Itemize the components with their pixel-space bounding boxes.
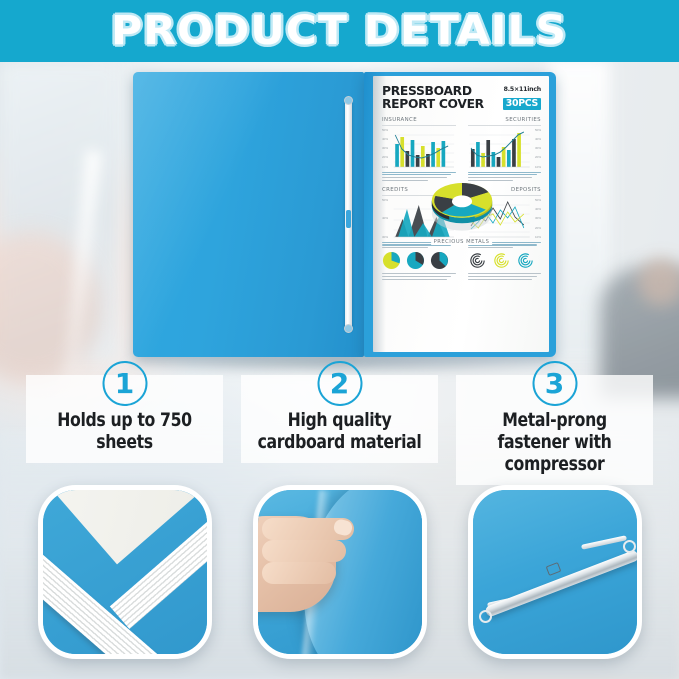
report-chart-grid: INSURANCE 50%40%30%20%10% [382, 117, 541, 281]
feature-number-badge-2: 2 [317, 361, 362, 406]
photo3-eyelet-right-icon [623, 540, 636, 553]
prong-eyelet-top-icon [344, 96, 353, 105]
chart-insurance: 50%40%30%20%10% [382, 129, 456, 169]
chart-securities-yticks: 50%40%30%20%10% [535, 129, 541, 169]
folder-back-cover: PRESSBOARD REPORT COVER 8.5×11inch 30PCS… [364, 72, 556, 357]
photo2-finger-2 [262, 540, 346, 562]
document-title-line1: PRESSBOARD [382, 85, 484, 98]
mini-pie-1 [382, 251, 401, 270]
feature-photo-3 [468, 485, 642, 659]
document-header: PRESSBOARD REPORT COVER 8.5×11inch 30PCS [382, 85, 541, 111]
chart-insurance-yticks: 50%40%30%20%10% [382, 129, 388, 169]
feature-card-2: 2 High quality cardboard material [241, 375, 438, 463]
mini-pie-charts [382, 251, 456, 270]
chart-credits-yticks: 50%40%30% [382, 199, 388, 239]
mini-pie-3 [430, 251, 449, 270]
feature-card-2-body: 2 High quality cardboard material [241, 375, 438, 463]
donut-chart-3d [425, 173, 499, 237]
folder-front-cover [133, 72, 364, 357]
document-meta: 8.5×11inch 30PCS [503, 85, 541, 111]
spiral-icon-yellow [492, 251, 511, 270]
spiral-icon-teal [516, 251, 535, 270]
feature-card-3: 3 Metal-prong fastener with compressor [456, 375, 653, 485]
document-title-line2: REPORT COVER [382, 98, 484, 111]
feature-card-1-body: 1 Holds up to 750 sheets [26, 375, 223, 463]
feature-text-2: High quality cardboard material [254, 409, 424, 453]
feature-photo-1 [38, 485, 212, 659]
spiral-icon-dark [468, 251, 487, 270]
quantity-badge: 30PCS [503, 98, 541, 110]
feature-text-1: Holds up to 750 sheets [39, 409, 209, 453]
printed-report-page: PRESSBOARD REPORT COVER 8.5×11inch 30PCS… [373, 76, 549, 352]
spiral-icons [468, 251, 542, 270]
panel-credits-text-2 [382, 273, 456, 279]
panel-label-precious-metals: PRECIOUS METALS [431, 239, 493, 245]
mini-pie-2 [406, 251, 425, 270]
feature-text-3: Metal-prong fastener with compressor [469, 409, 639, 475]
feature-cards: 1 Holds up to 750 sheets 2 High quality … [0, 360, 679, 679]
chart-securities-svg [468, 129, 542, 169]
page-title: PRODUCT DETAILS [111, 8, 567, 54]
document-title: PRESSBOARD REPORT COVER [382, 85, 484, 110]
photo3-eyelet-left-icon [479, 610, 492, 623]
panel-label-insurance: INSURANCE [382, 117, 456, 126]
product-details-page: PRODUCT DETAILS PRESSBOARD REPORT COVER [0, 0, 679, 679]
cover-highlight [133, 72, 364, 357]
feature-number-badge-1: 1 [102, 361, 147, 406]
prong-eyelet-bottom-icon [344, 324, 353, 333]
hero-product-image: PRESSBOARD REPORT COVER 8.5×11inch 30PCS… [0, 62, 679, 360]
photo2-finger-3 [262, 562, 336, 584]
feature-card-3-body: 3 Metal-prong fastener with compressor [456, 375, 653, 485]
feature-number-badge-3: 3 [532, 361, 577, 406]
chart-deposits-yticks: 50%40%30%20%10% [535, 199, 541, 239]
feature-card-1: 1 Holds up to 750 sheets [26, 375, 223, 463]
chart-securities: 50%40%30%20%10% [468, 129, 542, 169]
panel-label-securities: SECURITIES [468, 117, 542, 126]
header-banner: PRODUCT DETAILS [0, 0, 679, 62]
chart-insurance-svg [382, 129, 456, 169]
feature-photo-2 [253, 485, 427, 659]
size-label: 8.5×11inch [503, 86, 541, 93]
panel-deposits-text-2 [468, 273, 542, 279]
prong-gap [346, 210, 351, 228]
